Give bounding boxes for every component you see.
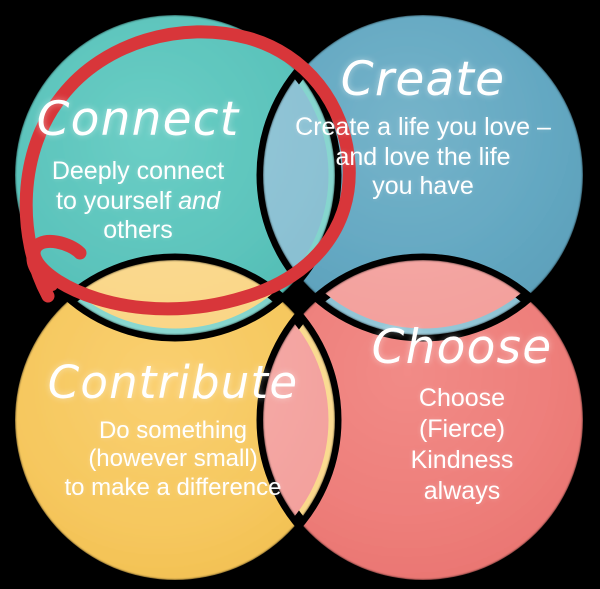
venn-circles-graphic bbox=[0, 0, 600, 589]
venn-diagram-canvas: Connect Deeply connectto yourself andoth… bbox=[0, 0, 600, 589]
